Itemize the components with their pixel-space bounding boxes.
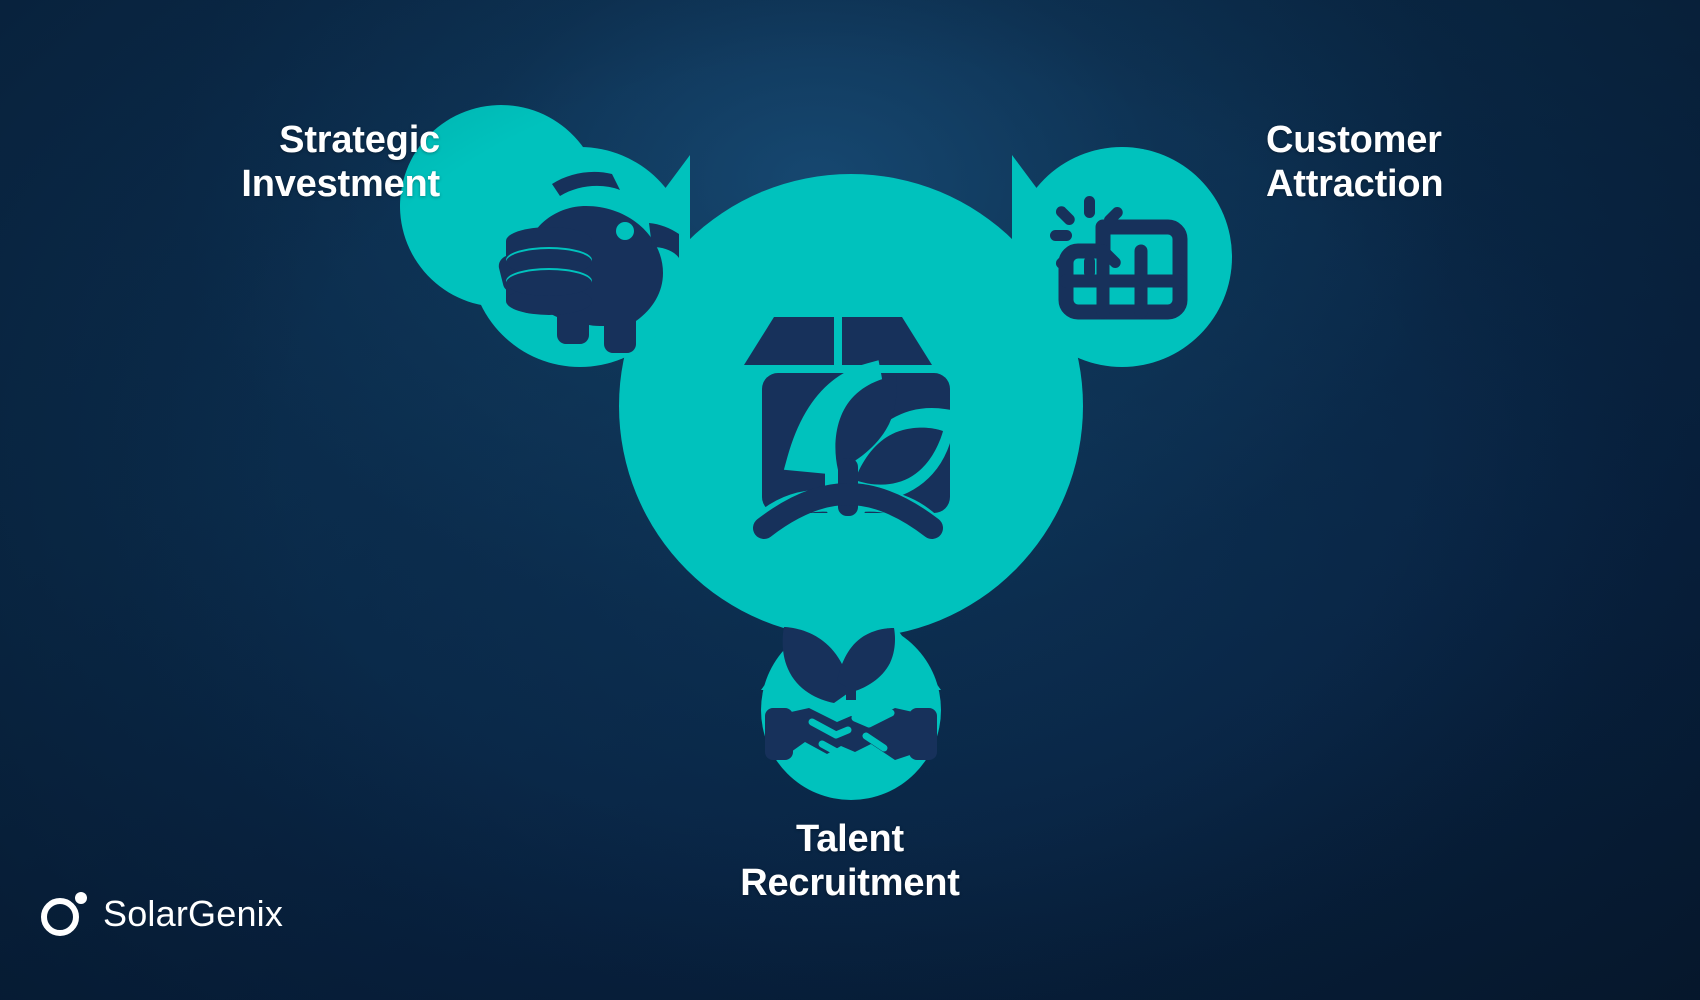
node-customer-attraction[interactable] (1012, 147, 1232, 367)
label-strategic-investment: Strategic Investment (140, 118, 440, 206)
node-strategic-investment[interactable] (400, 105, 690, 367)
slide-canvas: Strategic Investment Customer Attraction… (0, 0, 1700, 1000)
brand-logo: SolarGenix (38, 890, 283, 938)
label-talent-recruitment: Talent Recruitment (700, 817, 1000, 905)
package-box-with-sprout-icon (744, 317, 950, 528)
label-customer-attraction: Customer Attraction (1266, 118, 1596, 206)
brand-name: SolarGenix (103, 893, 283, 935)
customer-bubble-group (1012, 147, 1232, 367)
solargenix-ring-icon (38, 890, 90, 938)
